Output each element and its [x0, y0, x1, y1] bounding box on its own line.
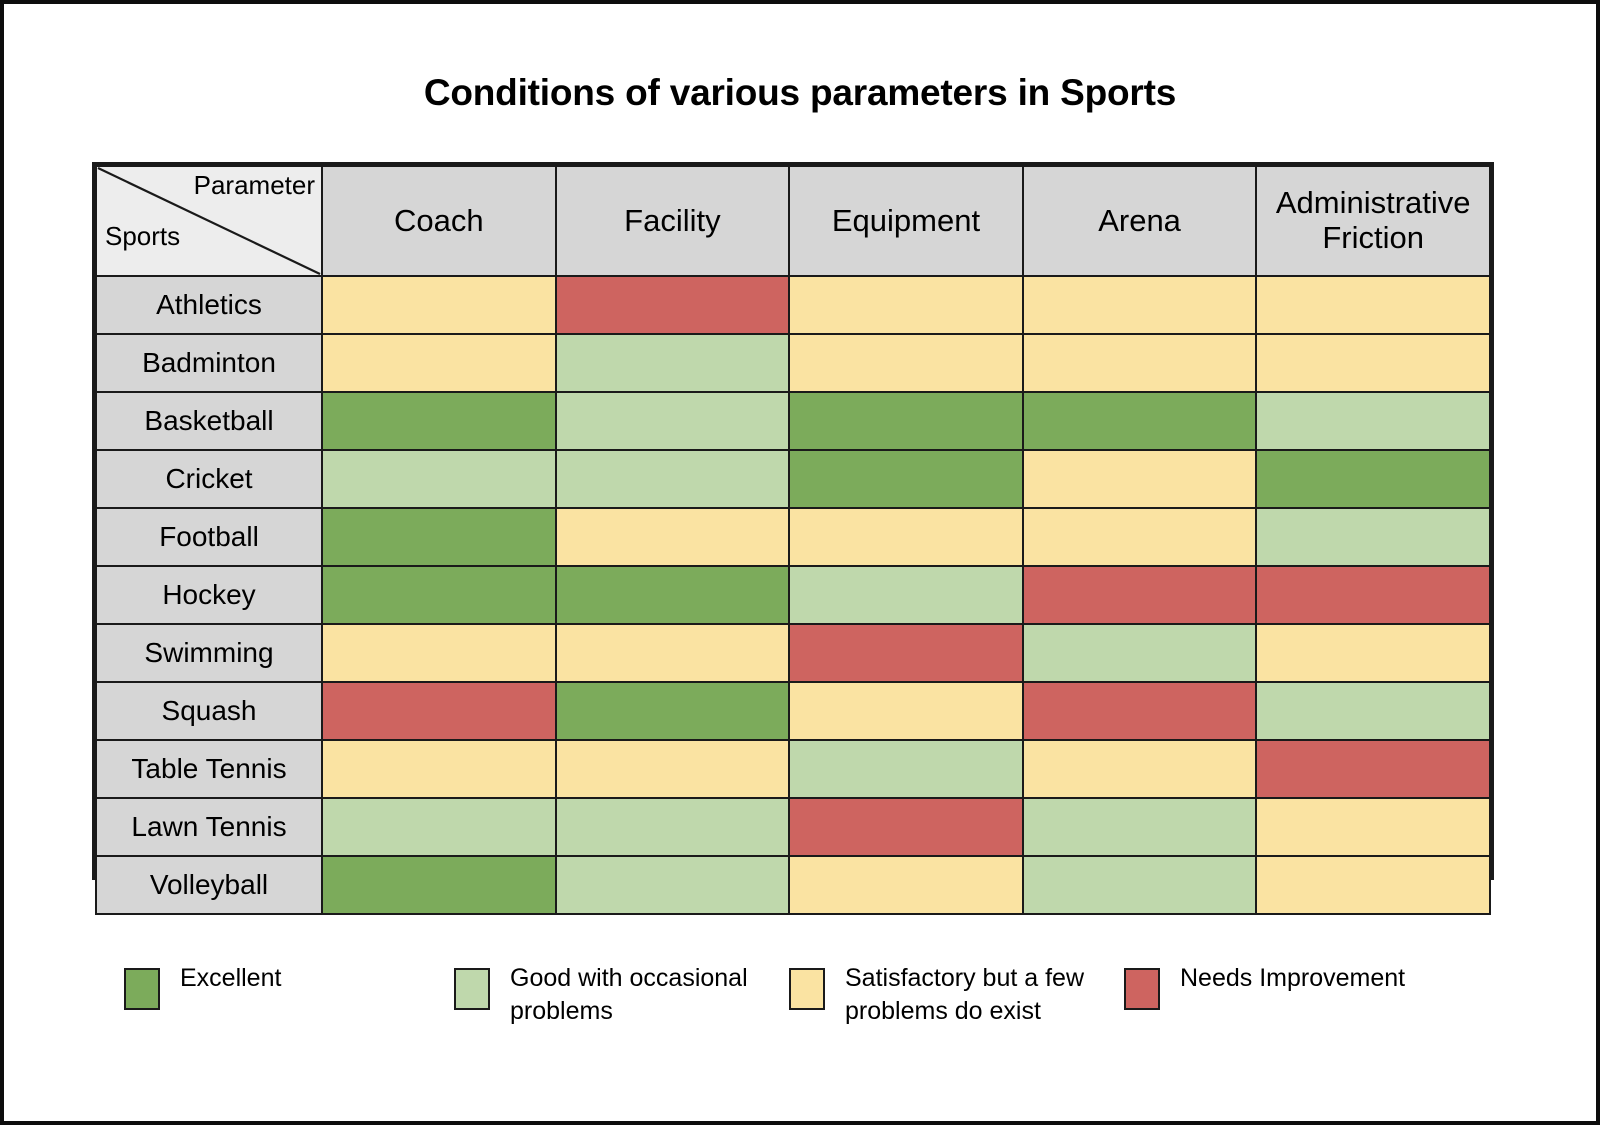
heatmap-cell: [556, 856, 790, 914]
legend-label: Excellent: [180, 962, 281, 995]
legend-label: Good with occasional problems: [510, 962, 760, 1028]
heatmap-cell: [789, 392, 1023, 450]
legend-item-excellent: Excellent: [124, 962, 454, 1010]
matrix-row: Football: [96, 508, 1490, 566]
heatmap-cell: [1023, 740, 1257, 798]
heatmap-cell: [1256, 334, 1490, 392]
row-header-swimming: Swimming: [96, 624, 322, 682]
legend: ExcellentGood with occasional problemsSa…: [124, 962, 1504, 1028]
matrix-row: Swimming: [96, 624, 1490, 682]
heatmap-cell: [789, 798, 1023, 856]
matrix-table: Parameter Sports Coach Facility Equipmen…: [95, 165, 1491, 915]
legend-swatch-good: [454, 968, 490, 1010]
row-header-football: Football: [96, 508, 322, 566]
heatmap-cell: [556, 740, 790, 798]
heatmap-cell: [1256, 624, 1490, 682]
column-header-administrative-friction: Administrative Friction: [1256, 166, 1490, 276]
row-header-hockey: Hockey: [96, 566, 322, 624]
heatmap-cell: [789, 856, 1023, 914]
heatmap-cell: [1023, 682, 1257, 740]
matrix-row: Athletics: [96, 276, 1490, 334]
row-header-table-tennis: Table Tennis: [96, 740, 322, 798]
column-header-coach: Coach: [322, 166, 556, 276]
heatmap-cell: [1256, 798, 1490, 856]
heatmap-cell: [1023, 856, 1257, 914]
matrix-row: Basketball: [96, 392, 1490, 450]
heatmap-cell: [1023, 276, 1257, 334]
matrix-header: Parameter Sports Coach Facility Equipmen…: [96, 166, 1490, 276]
heatmap-cell: [322, 566, 556, 624]
heatmap-cell: [556, 276, 790, 334]
heatmap-cell: [322, 450, 556, 508]
legend-item-satisfactory: Satisfactory but a few problems do exist: [789, 962, 1124, 1028]
legend-label: Satisfactory but a few problems do exist: [845, 962, 1095, 1028]
chart-page: Conditions of various parameters in Spor…: [0, 0, 1600, 1125]
matrix-body: AthleticsBadmintonBasketballCricketFootb…: [96, 276, 1490, 914]
matrix-row: Lawn Tennis: [96, 798, 1490, 856]
corner-axis-cell: Parameter Sports: [96, 166, 322, 276]
heatmap-cell: [322, 624, 556, 682]
heatmap-cell: [322, 392, 556, 450]
heatmap-cell: [556, 624, 790, 682]
row-header-volleyball: Volleyball: [96, 856, 322, 914]
heatmap-cell: [1256, 392, 1490, 450]
heatmap-cell: [1023, 392, 1257, 450]
matrix-row: Squash: [96, 682, 1490, 740]
heatmap-cell: [322, 334, 556, 392]
heatmap-cell: [322, 856, 556, 914]
heatmap-cell: [789, 682, 1023, 740]
heatmap-cell: [789, 334, 1023, 392]
heatmap-cell: [1023, 334, 1257, 392]
heatmap-cell: [1023, 624, 1257, 682]
legend-item-good: Good with occasional problems: [454, 962, 789, 1028]
heatmap-cell: [556, 798, 790, 856]
heatmap-cell: [1023, 566, 1257, 624]
legend-label: Needs Improvement: [1180, 962, 1405, 995]
heatmap-cell: [789, 740, 1023, 798]
heatmap-cell: [1256, 856, 1490, 914]
matrix-row: Badminton: [96, 334, 1490, 392]
page-title: Conditions of various parameters in Spor…: [4, 72, 1596, 114]
corner-column-axis-label: Parameter: [194, 172, 315, 198]
heatmap-cell: [789, 450, 1023, 508]
heatmap-cell: [322, 798, 556, 856]
heatmap-cell: [556, 508, 790, 566]
heatmap-cell: [789, 276, 1023, 334]
row-header-badminton: Badminton: [96, 334, 322, 392]
matrix-row: Table Tennis: [96, 740, 1490, 798]
heatmap-cell: [789, 508, 1023, 566]
row-header-lawn-tennis: Lawn Tennis: [96, 798, 322, 856]
heatmap-cell: [1256, 566, 1490, 624]
matrix-row: Volleyball: [96, 856, 1490, 914]
heatmap-cell: [556, 334, 790, 392]
heatmap-cell: [322, 740, 556, 798]
heatmap-cell: [322, 682, 556, 740]
heatmap-cell: [1023, 798, 1257, 856]
heatmap-cell: [789, 624, 1023, 682]
heatmap-cell: [556, 566, 790, 624]
heatmap-cell: [556, 682, 790, 740]
heatmap-matrix: Parameter Sports Coach Facility Equipmen…: [92, 162, 1494, 880]
row-header-athletics: Athletics: [96, 276, 322, 334]
heatmap-cell: [1256, 682, 1490, 740]
legend-item-needs-improvement: Needs Improvement: [1124, 962, 1454, 1010]
heatmap-cell: [789, 566, 1023, 624]
matrix-row: Hockey: [96, 566, 1490, 624]
row-header-squash: Squash: [96, 682, 322, 740]
header-row: Parameter Sports Coach Facility Equipmen…: [96, 166, 1490, 276]
legend-swatch-needs-improvement: [1124, 968, 1160, 1010]
matrix-row: Cricket: [96, 450, 1490, 508]
heatmap-cell: [1023, 508, 1257, 566]
column-header-equipment: Equipment: [789, 166, 1023, 276]
heatmap-cell: [1256, 508, 1490, 566]
legend-swatch-excellent: [124, 968, 160, 1010]
heatmap-cell: [1023, 450, 1257, 508]
heatmap-cell: [556, 392, 790, 450]
corner-row-axis-label: Sports: [105, 223, 180, 249]
heatmap-cell: [1256, 276, 1490, 334]
heatmap-cell: [1256, 740, 1490, 798]
column-header-facility: Facility: [556, 166, 790, 276]
row-header-cricket: Cricket: [96, 450, 322, 508]
heatmap-cell: [322, 276, 556, 334]
heatmap-cell: [556, 450, 790, 508]
heatmap-cell: [322, 508, 556, 566]
legend-swatch-satisfactory: [789, 968, 825, 1010]
row-header-basketball: Basketball: [96, 392, 322, 450]
column-header-arena: Arena: [1023, 166, 1257, 276]
heatmap-cell: [1256, 450, 1490, 508]
